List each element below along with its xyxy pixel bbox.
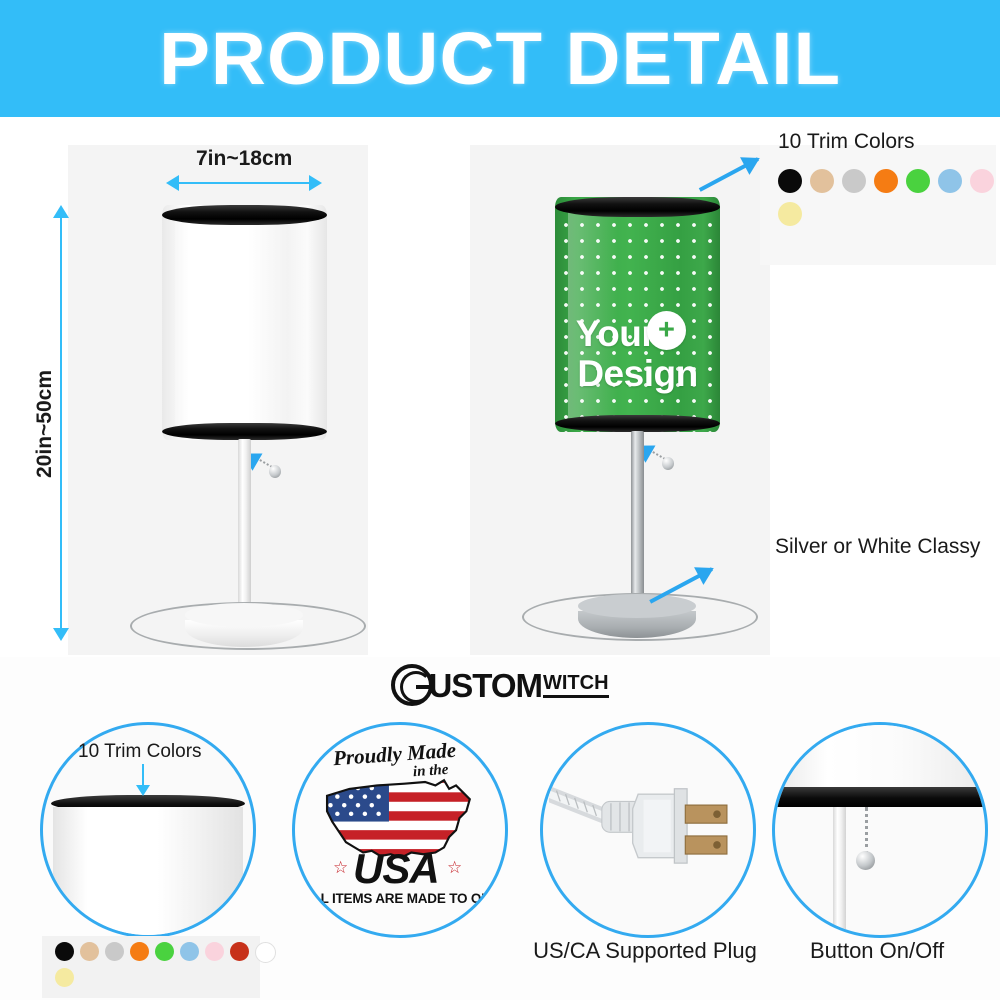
lamp-green-design-line2: Design <box>555 355 720 393</box>
feature-button-pole <box>833 807 846 935</box>
width-dimension-label: 7in~18cm <box>196 147 292 171</box>
feature-swatch-row-1 <box>55 942 276 963</box>
main-showcase: 10 Trim Colors 7in~18cm 20in~50cm <box>0 117 1000 657</box>
feature-button-caption: Button On/Off <box>772 938 982 964</box>
feature-swatch-tan[interactable] <box>80 942 99 961</box>
lamp-green-pole <box>631 431 644 614</box>
lamp-white-chain-ball <box>269 465 281 478</box>
width-dimension-arrow <box>178 182 310 184</box>
feature-button-circle <box>772 722 988 938</box>
brand-logo: USTOM WITCH <box>0 663 1000 707</box>
feature-swatch-gray[interactable] <box>105 942 124 961</box>
feature-button-chain-ball <box>856 851 875 870</box>
lamp-white-shade-body <box>162 205 327 440</box>
logo-witch-wrap: WITCH <box>543 673 609 698</box>
base-finish-callout-label: Silver or White Classy <box>775 535 980 559</box>
power-plug-icon <box>549 767 749 903</box>
feature-button-chain[interactable] <box>865 807 868 855</box>
feature-swatch-white[interactable] <box>255 942 276 963</box>
swatch-pink[interactable] <box>970 169 994 193</box>
feature-swatch-pink[interactable] <box>205 942 224 961</box>
feature-swatch-orange[interactable] <box>130 942 149 961</box>
swatch-yellow[interactable] <box>778 202 802 226</box>
feature-swatch-green[interactable] <box>155 942 174 961</box>
feature-swatch-red[interactable] <box>230 942 249 961</box>
feature-plug-circle <box>540 722 756 938</box>
usa-star-left: ☆ <box>333 858 348 878</box>
swatch-green[interactable] <box>906 169 930 193</box>
usa-star-right: ☆ <box>447 858 462 878</box>
height-dimension-arrow <box>60 217 62 629</box>
logo-underline <box>543 695 609 698</box>
lamp-green-design-line1: Your <box>555 315 720 353</box>
feature-button-trim <box>775 787 985 807</box>
feature-trim-colors-arrow <box>142 764 144 786</box>
lamp-green-chain-ball <box>662 457 674 470</box>
lamp-white-base <box>185 603 303 647</box>
swatch-orange[interactable] <box>874 169 898 193</box>
swatch-black[interactable] <box>778 169 802 193</box>
lamp-green-shade: Your + Design <box>555 197 720 432</box>
lamp-green-trim-bottom <box>555 415 720 432</box>
feature-swatch-yellow[interactable] <box>55 968 74 987</box>
lamp-white-pole <box>238 439 251 624</box>
logo-custom-text: USTOM <box>428 669 542 702</box>
feature-swatch-light-blue[interactable] <box>180 942 199 961</box>
feature-swatch-black[interactable] <box>55 942 74 961</box>
feature-plug-caption: US/CA Supported Plug <box>498 938 792 964</box>
feature-panels: 10 Trim Colors Prou <box>0 716 1000 1000</box>
lamp-white-trim-bottom <box>162 423 327 440</box>
lamp-white-shade <box>162 205 327 440</box>
swatch-light-blue[interactable] <box>938 169 962 193</box>
trim-colors-swatch-row-1 <box>778 169 1000 195</box>
page-title: PRODUCT DETAIL <box>159 22 841 96</box>
usa-big-text: USA <box>353 845 439 893</box>
lamp-white-base-top <box>185 603 303 627</box>
plus-icon[interactable]: + <box>647 311 686 350</box>
logo-witch-text: WITCH <box>543 673 609 693</box>
lamp-green-trim-top <box>555 197 720 217</box>
feature-trim-colors-inner-label: 10 Trim Colors <box>78 741 202 763</box>
lamp-green-base-top <box>578 594 696 618</box>
height-dimension-label: 20in~50cm <box>33 354 57 494</box>
swatch-tan[interactable] <box>810 169 834 193</box>
feature-usa-circle: Proudly Made in the <box>292 722 508 938</box>
logo-c-icon <box>391 664 433 706</box>
lamp-white-trim-top <box>162 205 327 225</box>
trim-colors-callout-label: 10 Trim Colors <box>778 130 915 154</box>
feature-button-shade-body <box>775 725 985 795</box>
feature-trim-shade-body <box>53 807 243 938</box>
trim-colors-swatch-row-2 <box>778 202 802 226</box>
feature-swatch-row-2 <box>55 968 74 987</box>
usa-sub-text: ALL ITEMS ARE MADE TO ORDER! <box>303 891 508 906</box>
lamp-green-base <box>578 594 696 638</box>
swatch-gray[interactable] <box>842 169 866 193</box>
product-detail-page: PRODUCT DETAIL 10 Trim Colors 7in~18cm <box>0 0 1000 1000</box>
page-banner: PRODUCT DETAIL <box>0 0 1000 117</box>
